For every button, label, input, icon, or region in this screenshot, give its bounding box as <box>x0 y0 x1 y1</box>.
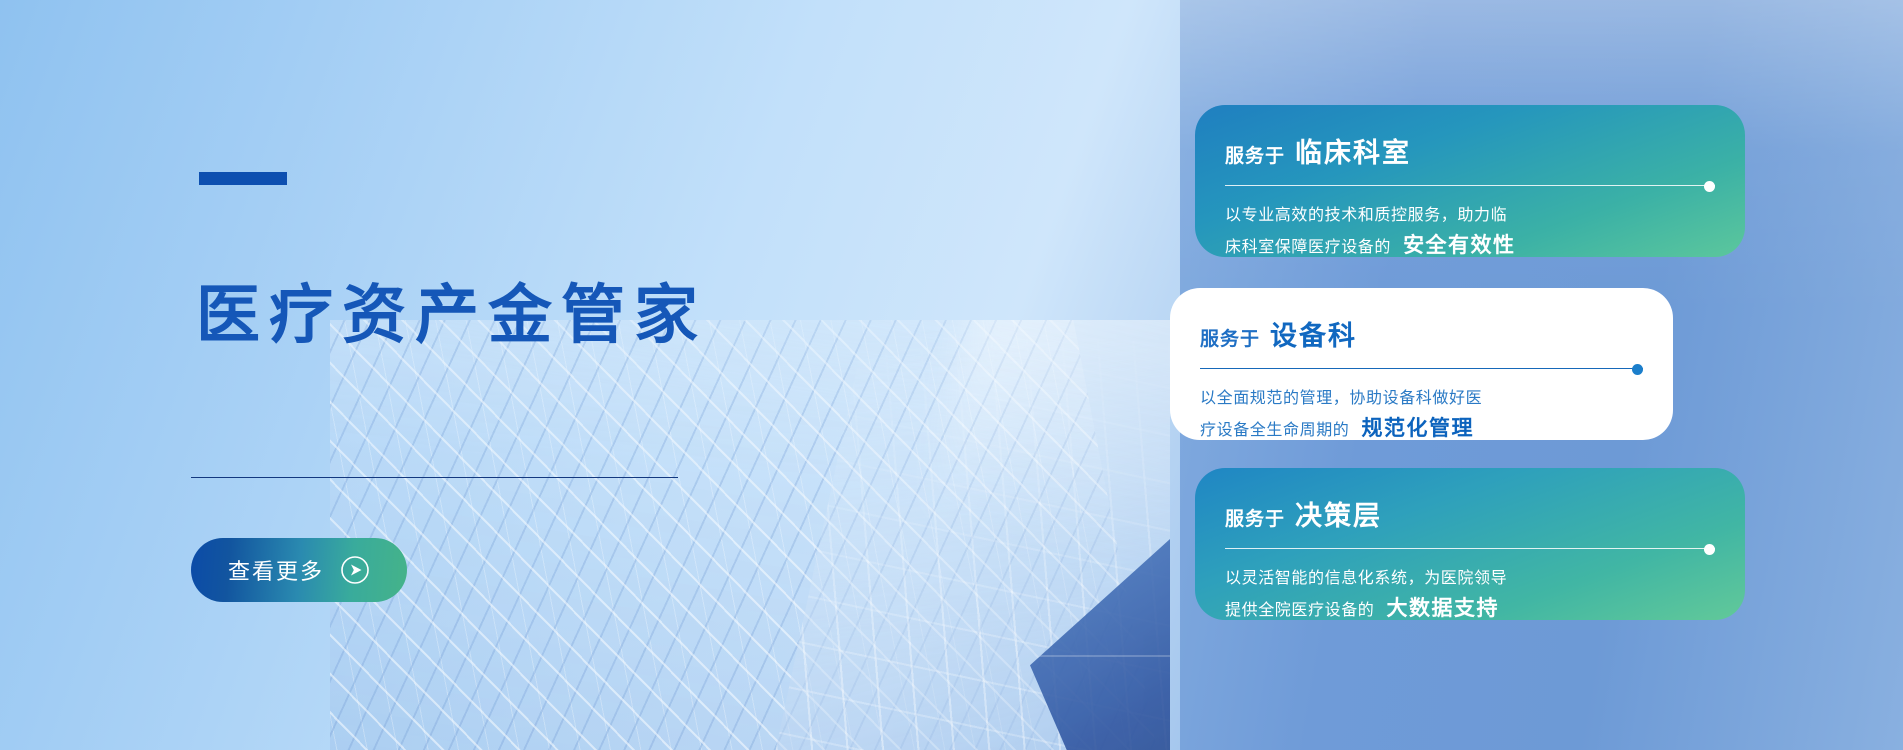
card-title: 设备科 <box>1270 314 1357 353</box>
view-more-button[interactable]: 查看更多 <box>191 538 407 602</box>
building-facade-right <box>750 322 1170 750</box>
progress-dot-icon <box>1704 181 1715 192</box>
card-highlight: 规范化管理 <box>1361 417 1474 440</box>
card-desc-line-1: 以专业高效的技术和质控服务，助力临 <box>1225 207 1507 224</box>
card-desc-line-2: 床科室保障医疗设备的 <box>1225 239 1391 256</box>
arrow-right-circle-icon <box>340 555 370 585</box>
service-card-clinical[interactable]: 服务于 临床科室 以专业高效的技术和质控服务，助力临 床科室保障医疗设备的 安全… <box>1195 105 1745 257</box>
card-prefix: 服务于 <box>1225 141 1285 168</box>
progress-dot-icon <box>1704 544 1715 555</box>
card-title: 临床科室 <box>1295 131 1411 170</box>
progress-dot-icon <box>1632 364 1643 375</box>
sun-beam <box>895 320 1170 718</box>
card-rule <box>1200 364 1643 374</box>
card-description: 以全面规范的管理，协助设备科做好医 疗设备全生命周期的 规范化管理 <box>1200 386 1643 440</box>
card-heading: 服务于 临床科室 <box>1225 131 1715 170</box>
accent-bar <box>199 172 287 185</box>
card-desc-line-2: 疗设备全生命周期的 <box>1200 422 1349 439</box>
card-highlight: 大数据支持 <box>1386 597 1499 620</box>
horizontal-divider <box>191 477 678 478</box>
card-rule <box>1225 181 1715 191</box>
card-desc-line-2: 提供全院医疗设备的 <box>1225 602 1374 619</box>
card-description: 以灵活智能的信息化系统，为医院领导 提供全院医疗设备的 大数据支持 <box>1225 566 1715 620</box>
card-desc-line-1: 以灵活智能的信息化系统，为医院领导 <box>1225 570 1507 587</box>
card-rule <box>1225 544 1715 554</box>
rule-line <box>1200 368 1643 369</box>
building-prism-base <box>1030 530 1170 750</box>
view-more-label: 查看更多 <box>228 554 324 586</box>
card-desc-line-1: 以全面规范的管理，协助设备科做好医 <box>1200 390 1482 407</box>
service-card-decision-makers[interactable]: 服务于 决策层 以灵活智能的信息化系统，为医院领导 提供全院医疗设备的 大数据支… <box>1195 468 1745 620</box>
card-heading: 服务于 设备科 <box>1200 314 1643 353</box>
card-heading: 服务于 决策层 <box>1225 494 1715 533</box>
rule-line <box>1225 548 1715 549</box>
service-card-equipment-dept[interactable]: 服务于 设备科 以全面规范的管理，协助设备科做好医 疗设备全生命周期的 规范化管… <box>1170 288 1673 440</box>
rule-line <box>1225 185 1715 186</box>
card-prefix: 服务于 <box>1200 324 1260 351</box>
card-description: 以专业高效的技术和质控服务，助力临 床科室保障医疗设备的 安全有效性 <box>1225 203 1715 257</box>
page-title: 医疗资产金管家 <box>196 283 707 347</box>
card-title: 决策层 <box>1295 494 1382 533</box>
hero-banner: 医疗资产金管家 查看更多 服务于 临床科室 以专业高效的技术和 <box>0 0 1903 750</box>
card-highlight: 安全有效性 <box>1403 234 1516 257</box>
hero-left-column: 医疗资产金管家 查看更多 <box>0 0 760 750</box>
card-prefix: 服务于 <box>1225 504 1285 531</box>
